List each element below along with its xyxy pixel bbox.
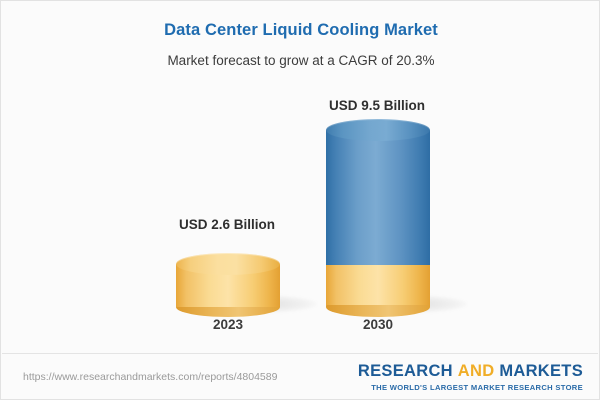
logo-word-markets: MARKETS (499, 362, 583, 380)
logo-tagline: THE WORLD'S LARGEST MARKET RESEARCH STOR… (358, 383, 583, 392)
research-and-markets-logo[interactable]: RESEARCH AND MARKETS THE WORLD'S LARGEST… (358, 362, 583, 392)
bar-2030-value-label: USD 9.5 Billion (277, 98, 477, 113)
chart-plot-area: USD 2.6 Billion 2023 USD 9.5 Billion (1, 1, 600, 353)
logo-word-research: RESEARCH (358, 362, 453, 380)
footer: https://www.researchandmarkets.com/repor… (1, 354, 600, 399)
bar-2023-value-label: USD 2.6 Billion (127, 217, 327, 232)
logo-wordmark: RESEARCH AND MARKETS (358, 362, 583, 381)
bar-2030-segment-growth (326, 119, 430, 265)
bar-2030-top-cap (326, 119, 430, 141)
bar-2030-growth-body (326, 130, 430, 265)
bar-2023-top-cap (176, 253, 280, 275)
logo-word-and: AND (458, 362, 495, 380)
source-url[interactable]: https://www.researchandmarkets.com/repor… (23, 371, 277, 383)
bar-2023-segment-base (176, 253, 280, 307)
bar-2030-category-label: 2030 (278, 317, 478, 332)
chart-card: Data Center Liquid Cooling Market Market… (0, 0, 600, 400)
